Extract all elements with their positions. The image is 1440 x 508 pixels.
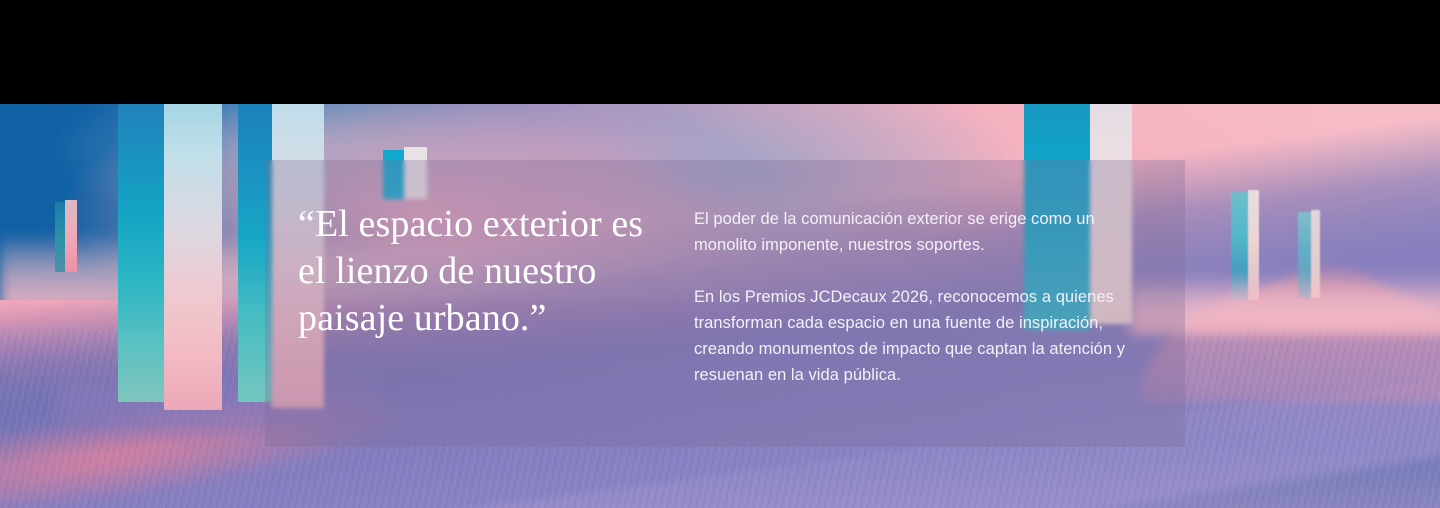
body-paragraph-1: El poder de la comunicación exterior se … xyxy=(694,206,1154,258)
content-panel: “El espacio exterior es el lienzo de nue… xyxy=(265,160,1185,447)
content-panel-inner: “El espacio exterior es el lienzo de nue… xyxy=(265,160,1185,447)
pull-quote: “El espacio exterior es el lienzo de nue… xyxy=(298,201,670,342)
monolith-far-left-small xyxy=(55,200,77,272)
hero-banner: “El espacio exterior es el lienzo de nue… xyxy=(0,0,1440,508)
monolith-face-shadow xyxy=(118,38,164,402)
body-paragraph-2: En los Premios JCDecaux 2026, reconocemo… xyxy=(694,284,1154,388)
body-copy: El poder de la comunicación exterior se … xyxy=(694,206,1154,388)
monolith-face-shadow xyxy=(55,202,65,272)
monolith-face-lit xyxy=(164,30,222,410)
monolith-tall-left xyxy=(118,30,222,402)
monolith-face-lit xyxy=(65,200,77,272)
